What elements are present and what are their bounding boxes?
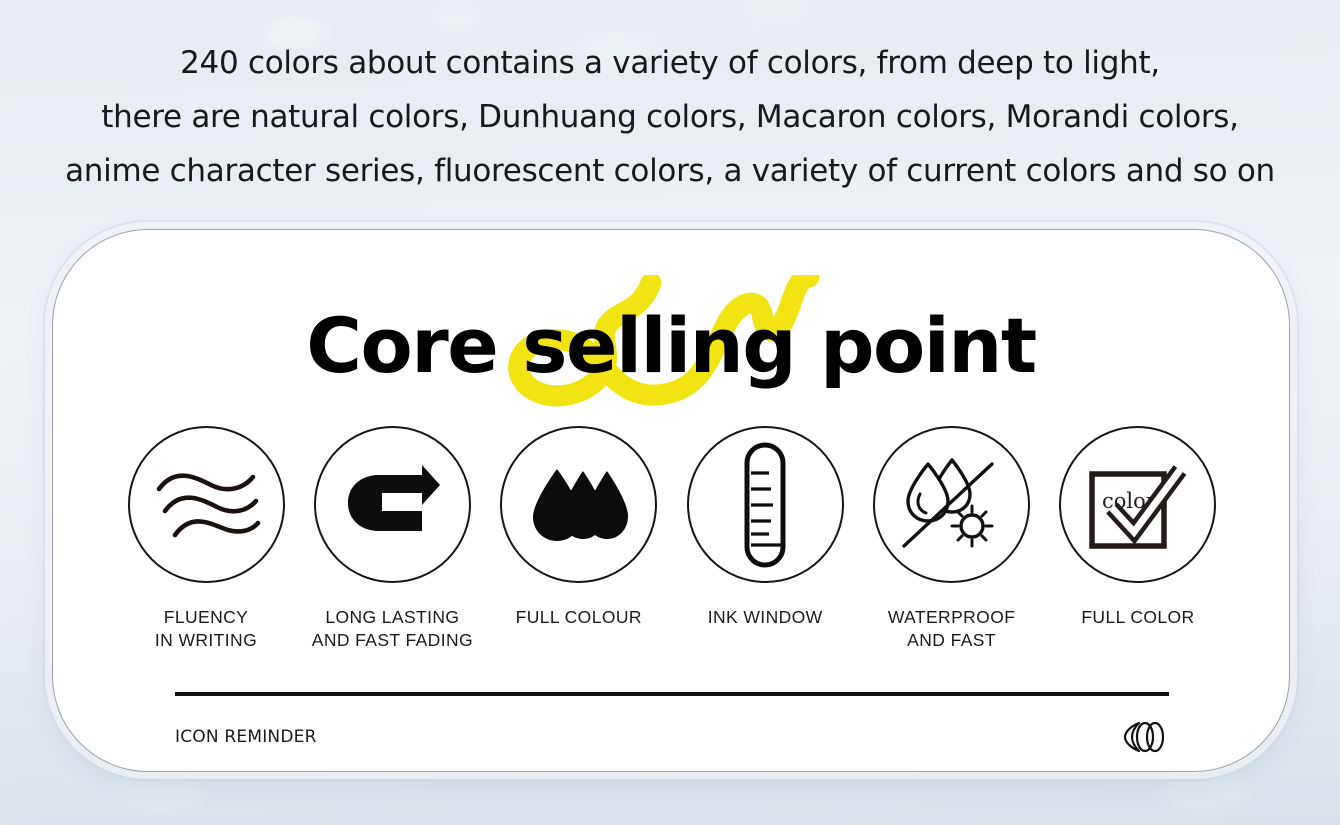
wavy-lines-icon bbox=[151, 459, 261, 551]
feature-label: FLUENCY IN WRITING bbox=[155, 606, 257, 652]
color-checkbox-icon: color bbox=[1084, 456, 1192, 554]
core-selling-point-card: Core selling point FLUENCY IN WRITING bbox=[52, 229, 1290, 772]
feature-item-ink-window[interactable]: INK WINDOW bbox=[672, 426, 858, 629]
feature-label: FULL COLOUR bbox=[516, 606, 642, 629]
redo-arrow-icon bbox=[344, 459, 440, 551]
ink-window-icon bbox=[737, 441, 793, 569]
ink-drops-icon bbox=[529, 465, 629, 545]
page-title: Core selling point bbox=[53, 301, 1289, 390]
intro-paragraph: 240 colors about contains a variety of c… bbox=[0, 36, 1340, 198]
feature-item-long-lasting[interactable]: LONG LASTING AND FAST FADING bbox=[299, 426, 485, 652]
footer-divider bbox=[175, 692, 1169, 696]
title-block: Core selling point bbox=[53, 275, 1289, 415]
feature-icon-circle bbox=[873, 426, 1030, 583]
waterproof-sun-icon bbox=[896, 454, 1008, 556]
feature-item-fluency[interactable]: FLUENCY IN WRITING bbox=[113, 426, 299, 652]
feature-label: INK WINDOW bbox=[708, 606, 823, 629]
feature-item-waterproof[interactable]: WATERPROOF AND FAST bbox=[859, 426, 1045, 652]
feature-list: FLUENCY IN WRITING LONG LASTING AND FAST… bbox=[113, 426, 1231, 652]
intro-line-2: there are natural colors, Dunhuang color… bbox=[0, 90, 1340, 144]
card-footer: ICON REMINDER bbox=[175, 714, 1169, 760]
intro-line-1: 240 colors about contains a variety of c… bbox=[0, 36, 1340, 90]
feature-label: LONG LASTING AND FAST FADING bbox=[312, 606, 473, 652]
feature-label: WATERPROOF AND FAST bbox=[888, 606, 1015, 652]
intro-line-3: anime character series, fluorescent colo… bbox=[0, 144, 1340, 198]
feature-icon-circle bbox=[687, 426, 844, 583]
feature-label: FULL COLOR bbox=[1081, 606, 1194, 629]
icon-reminder-label: ICON REMINDER bbox=[175, 727, 317, 747]
feature-item-full-colour[interactable]: FULL COLOUR bbox=[486, 426, 672, 629]
three-lens-logo bbox=[1121, 720, 1169, 754]
feature-icon-circle bbox=[500, 426, 657, 583]
feature-icon-circle: color bbox=[1059, 426, 1216, 583]
feature-item-full-color[interactable]: color FULL COLOR bbox=[1045, 426, 1231, 629]
feature-icon-circle bbox=[128, 426, 285, 583]
feature-icon-circle bbox=[314, 426, 471, 583]
